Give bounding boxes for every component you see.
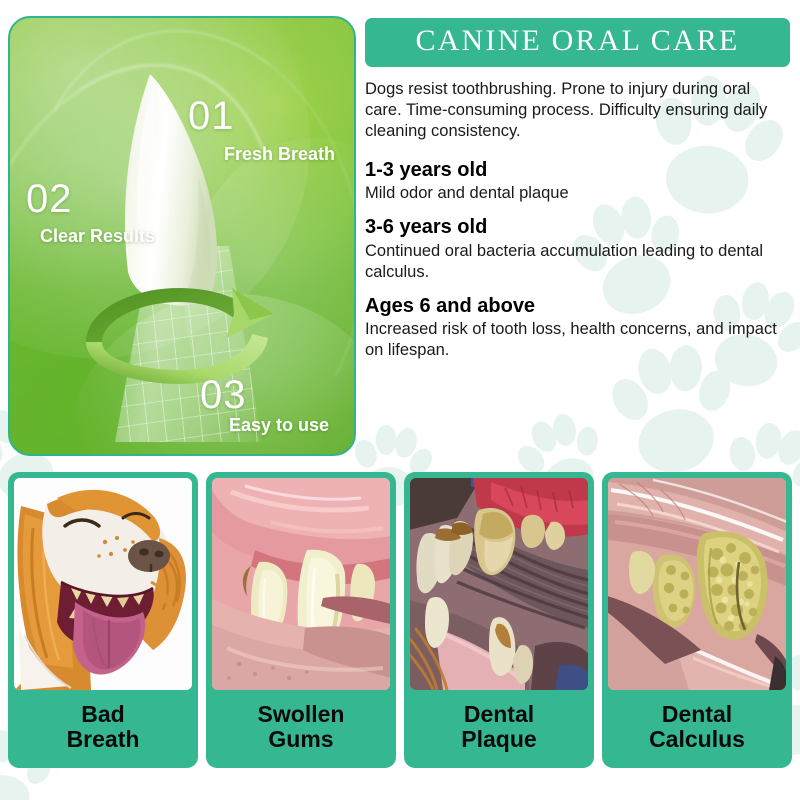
symptom-label: Swollen Gums [212,690,390,768]
dental-calculus-photo [608,478,786,690]
top-section: 01 Fresh Breath 02 Clear Results 03 Easy… [0,0,800,465]
title-banner: CANINE ORAL CARE [365,18,790,67]
age-stage-body: Continued oral bacteria accumulation lea… [365,241,790,283]
feature-number-02: 02 [26,179,73,219]
page-title: CANINE ORAL CARE [365,25,790,57]
symptom-card-dental-calculus[interactable]: Dental Calculus [602,472,792,768]
feature-caption-clear-results: Clear Results [40,227,155,245]
symptom-card-bad-breath[interactable]: Bad Breath [8,472,198,768]
intro-paragraph: Dogs resist toothbrushing. Prone to inju… [365,79,790,143]
feature-caption-fresh-breath: Fresh Breath [224,145,335,163]
symptom-card-row: Bad Breath [0,472,800,782]
dog-yawning-photo [14,478,192,690]
feature-caption-easy-to-use: Easy to use [229,416,329,434]
age-stage-heading: Ages 6 and above [365,294,790,318]
symptom-label: Dental Plaque [410,690,588,768]
symptom-card-swollen-gums[interactable]: Swollen Gums [206,472,396,768]
symptom-card-dental-plaque[interactable]: Dental Plaque [404,472,594,768]
age-stage-body: Increased risk of tooth loss, health con… [365,319,790,361]
symptom-label: Bad Breath [14,690,192,768]
age-stage-3-6: 3-6 years old Continued oral bacteria ac… [365,215,790,283]
tooth-illustration [60,66,280,438]
age-stage-body: Mild odor and dental plaque [365,183,790,204]
hero-product-panel: 01 Fresh Breath 02 Clear Results 03 Easy… [8,16,356,456]
age-stage-1-3: 1-3 years old Mild odor and dental plaqu… [365,158,790,205]
feature-number-01: 01 [188,96,235,136]
info-column: CANINE ORAL CARE Dogs resist toothbrushi… [365,18,790,373]
dental-plaque-photo [410,478,588,690]
rotation-arrow-icon [74,280,284,388]
symptom-label: Dental Calculus [608,690,786,768]
feature-number-03: 03 [200,375,247,415]
age-stage-6-plus: Ages 6 and above Increased risk of tooth… [365,294,790,362]
age-stage-heading: 1-3 years old [365,158,790,182]
swollen-gums-photo [212,478,390,690]
age-stage-heading: 3-6 years old [365,215,790,239]
